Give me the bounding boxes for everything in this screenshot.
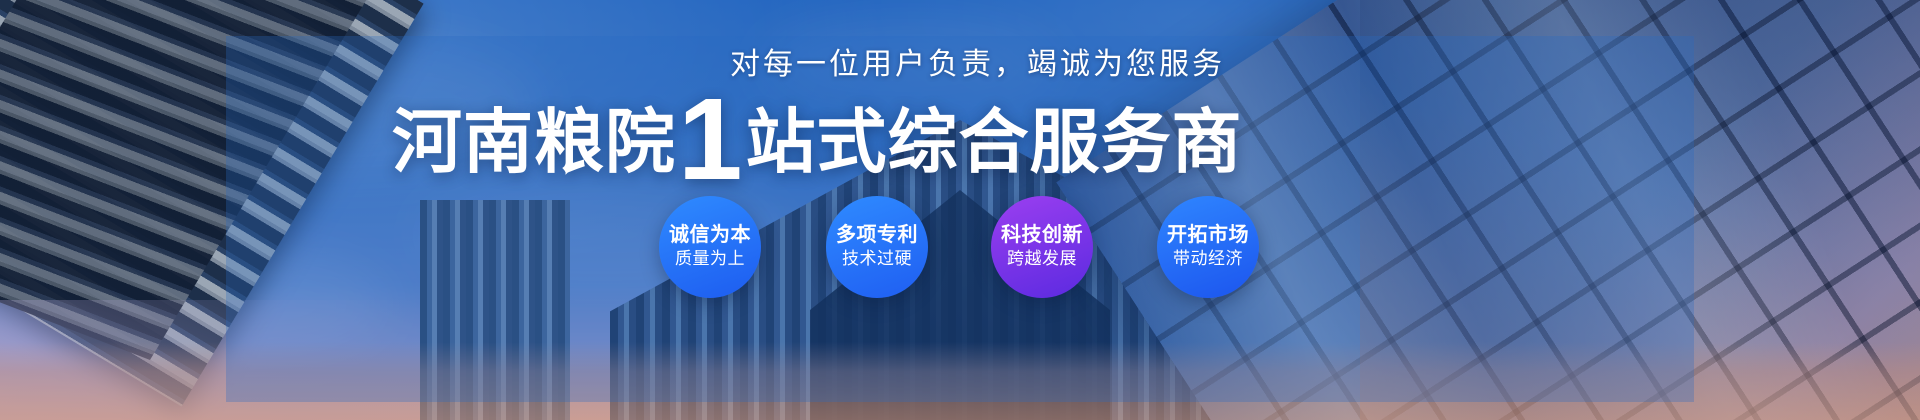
banner-subtitle: 对每一位用户负责，竭诚为您服务 [730, 50, 1225, 80]
feature-badge[interactable]: 多项专利技术过硬 [826, 196, 928, 298]
headline-numeral: 1 [676, 94, 746, 184]
feature-badge-subtitle: 质量为上 [675, 249, 745, 269]
headline-suffix: 站式综合服务商 [746, 108, 1243, 177]
headline-prefix: 河南粮院 [392, 108, 676, 177]
banner-headline: 河南粮院 1 站式综合服务商 [392, 86, 1243, 176]
feature-badge-title: 科技创新 [1001, 225, 1083, 246]
feature-badge[interactable]: 科技创新跨越发展 [991, 196, 1093, 298]
banner-content: 对每一位用户负责，竭诚为您服务 河南粮院 1 站式综合服务商 诚信为本质量为上多… [0, 0, 1920, 420]
feature-badge-subtitle: 跨越发展 [1007, 249, 1077, 269]
feature-badge[interactable]: 诚信为本质量为上 [659, 196, 761, 298]
feature-badge-subtitle: 技术过硬 [842, 249, 912, 269]
feature-badge-subtitle: 带动经济 [1173, 249, 1243, 269]
feature-badge-title: 多项专利 [836, 225, 918, 246]
feature-badge[interactable]: 开拓市场带动经济 [1157, 196, 1259, 298]
promo-banner: 对每一位用户负责，竭诚为您服务 河南粮院 1 站式综合服务商 诚信为本质量为上多… [0, 0, 1920, 420]
feature-badge-title: 诚信为本 [669, 225, 751, 246]
feature-badge-title: 开拓市场 [1167, 225, 1249, 246]
